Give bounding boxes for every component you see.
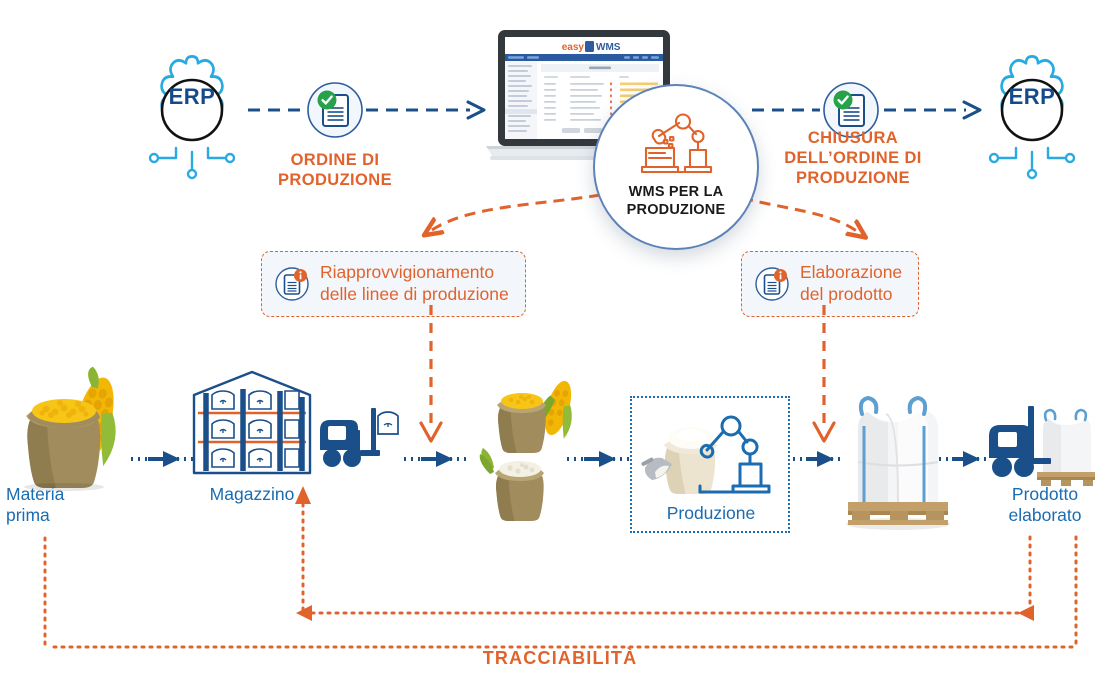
diagram-canvas: ERP ORDINE DI PRODUZIONE <box>0 0 1120 696</box>
process-box-replenishment-text: Riapprovvigionamento delle linee di prod… <box>320 262 509 306</box>
wms-badge-line1: WMS PER LA <box>627 184 726 202</box>
wms-badge-line2: PRODUZIONE <box>627 202 726 220</box>
wms-production-badge[interactable]: WMS PER LA PRODUZIONE <box>593 84 759 250</box>
traceability-loop <box>0 480 1120 660</box>
raw-material-image <box>14 368 126 490</box>
forklift-icon <box>316 400 402 472</box>
warehouse-icon <box>190 369 314 474</box>
document-alert-icon <box>274 266 310 302</box>
robot-arm-icon <box>638 112 714 178</box>
process-box-processing-text: Elaborazione del prodotto <box>800 262 902 306</box>
wms-badge-text: WMS PER LA PRODUZIONE <box>627 184 726 219</box>
traceability-label: TRACCIABILITÀ <box>0 648 1120 669</box>
document-alert-icon <box>754 266 790 302</box>
processing-line1: Elaborazione <box>800 262 902 284</box>
processing-line2: del prodotto <box>800 284 902 306</box>
replenishment-line1: Riapprovvigionamento <box>320 262 509 284</box>
badge-branch-arrows <box>0 0 1120 300</box>
replenishment-line2: delle linee di produzione <box>320 284 509 306</box>
